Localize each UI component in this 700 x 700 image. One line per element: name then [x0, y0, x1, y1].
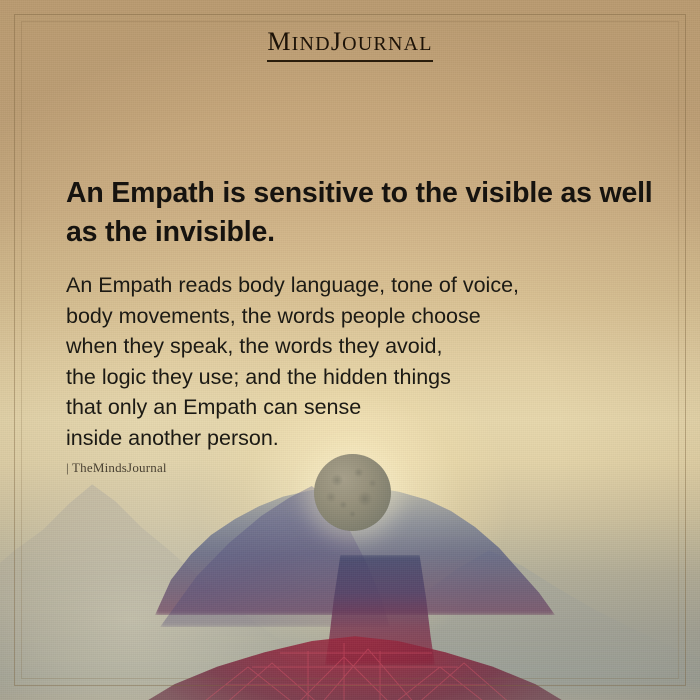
logo-m: M [267, 27, 291, 56]
logo-ind: IND [292, 33, 331, 55]
body-line: body movements, the words people choose [66, 301, 646, 332]
body-line: that only an Empath can sense [66, 392, 646, 423]
quote-card: MINDJOURNAL An Empath is sensitive to th… [0, 0, 700, 700]
body-line: when they speak, the words they avoid, [66, 331, 646, 362]
logo-j: J [331, 27, 342, 56]
body-line: An Empath reads body language, tone of v… [66, 270, 646, 301]
logo-ournal: OURNAL [342, 33, 433, 55]
brand-logo: MINDJOURNAL [0, 27, 700, 62]
quote-headline: An Empath is sensitive to the visible as… [66, 174, 656, 252]
headline-line: An Empath is sensitive to the visible [66, 177, 553, 209]
quote-body: An Empath reads body language, tone of v… [66, 270, 646, 453]
attribution-credit: | TheMindsJournal [66, 460, 167, 476]
brand-logo-text: MINDJOURNAL [267, 27, 432, 62]
body-line: inside another person. [66, 423, 646, 454]
body-line: the logic they use; and the hidden thing… [66, 362, 646, 393]
